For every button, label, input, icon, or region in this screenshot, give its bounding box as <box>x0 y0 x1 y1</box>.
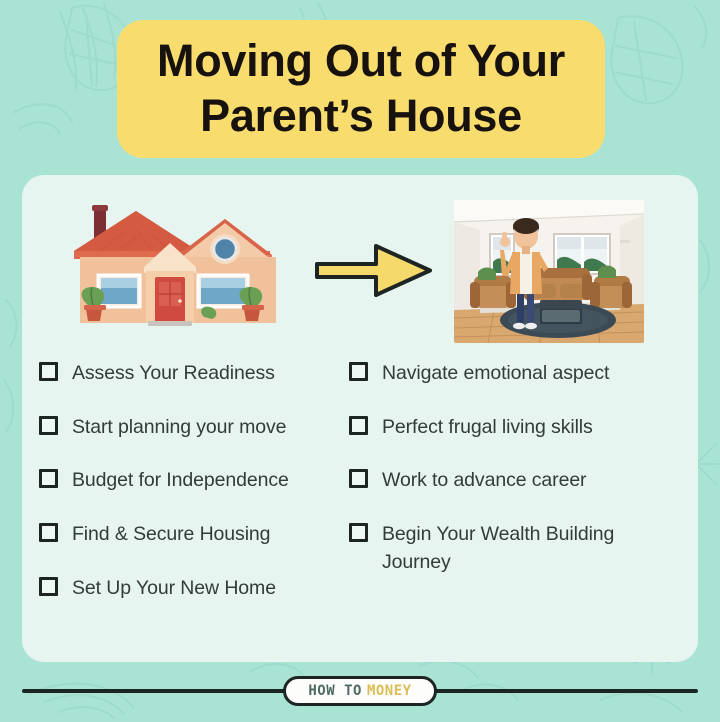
checkbox-icon[interactable] <box>39 469 58 488</box>
brand-badge: HOW TO MONEY <box>283 676 437 706</box>
checkbox-icon[interactable] <box>39 577 58 596</box>
checkbox-icon[interactable] <box>349 362 368 381</box>
checklist-item[interactable]: Start planning your move <box>39 414 359 442</box>
title-banner: Moving Out of Your Parent’s House <box>117 20 605 158</box>
checklist-item[interactable]: Assess Your Readiness <box>39 360 359 388</box>
checklist-item-label: Start planning your move <box>72 414 286 442</box>
content-card: Assess Your Readiness Start planning you… <box>22 175 698 662</box>
checklist-column-left: Assess Your Readiness Start planning you… <box>39 360 359 628</box>
checklist: Assess Your Readiness Start planning you… <box>22 360 698 610</box>
checklist-item[interactable]: Navigate emotional aspect <box>349 360 694 388</box>
checklist-item[interactable]: Set Up Your New Home <box>39 575 359 603</box>
checkbox-icon[interactable] <box>349 416 368 435</box>
checklist-item[interactable]: Begin Your Wealth Building Journey <box>349 521 694 576</box>
checklist-item-label: Budget for Independence <box>72 467 289 495</box>
checklist-item-label: Assess Your Readiness <box>72 360 275 388</box>
checkbox-icon[interactable] <box>39 416 58 435</box>
checklist-item-label: Find & Secure Housing <box>72 521 270 549</box>
page-title-line-2: Parent’s House <box>200 89 522 144</box>
checklist-column-right: Navigate emotional aspect Perfect frugal… <box>349 360 694 602</box>
checklist-item-label: Begin Your Wealth Building Journey <box>382 521 662 576</box>
checklist-item-label: Work to advance career <box>382 467 586 495</box>
checklist-item[interactable]: Budget for Independence <box>39 467 359 495</box>
checklist-item[interactable]: Find & Secure Housing <box>39 521 359 549</box>
checklist-item[interactable]: Work to advance career <box>349 467 694 495</box>
checklist-item-label: Navigate emotional aspect <box>382 360 609 388</box>
checkbox-icon[interactable] <box>39 523 58 542</box>
checkbox-icon[interactable] <box>39 362 58 381</box>
brand-name-part1: HOW TO <box>308 684 362 698</box>
illustration-row <box>22 188 698 348</box>
checklist-item-label: Perfect frugal living skills <box>382 414 593 442</box>
checklist-item-label: Set Up Your New Home <box>72 575 276 603</box>
checkbox-icon[interactable] <box>349 523 368 542</box>
living-room-illustration <box>454 200 644 343</box>
right-arrow-icon <box>314 243 434 298</box>
page-title-line-1: Moving Out of Your <box>157 34 565 89</box>
checklist-item[interactable]: Perfect frugal living skills <box>349 414 694 442</box>
checkbox-icon[interactable] <box>349 469 368 488</box>
brand-name-part2: MONEY <box>367 684 412 698</box>
house-illustration <box>70 199 290 344</box>
